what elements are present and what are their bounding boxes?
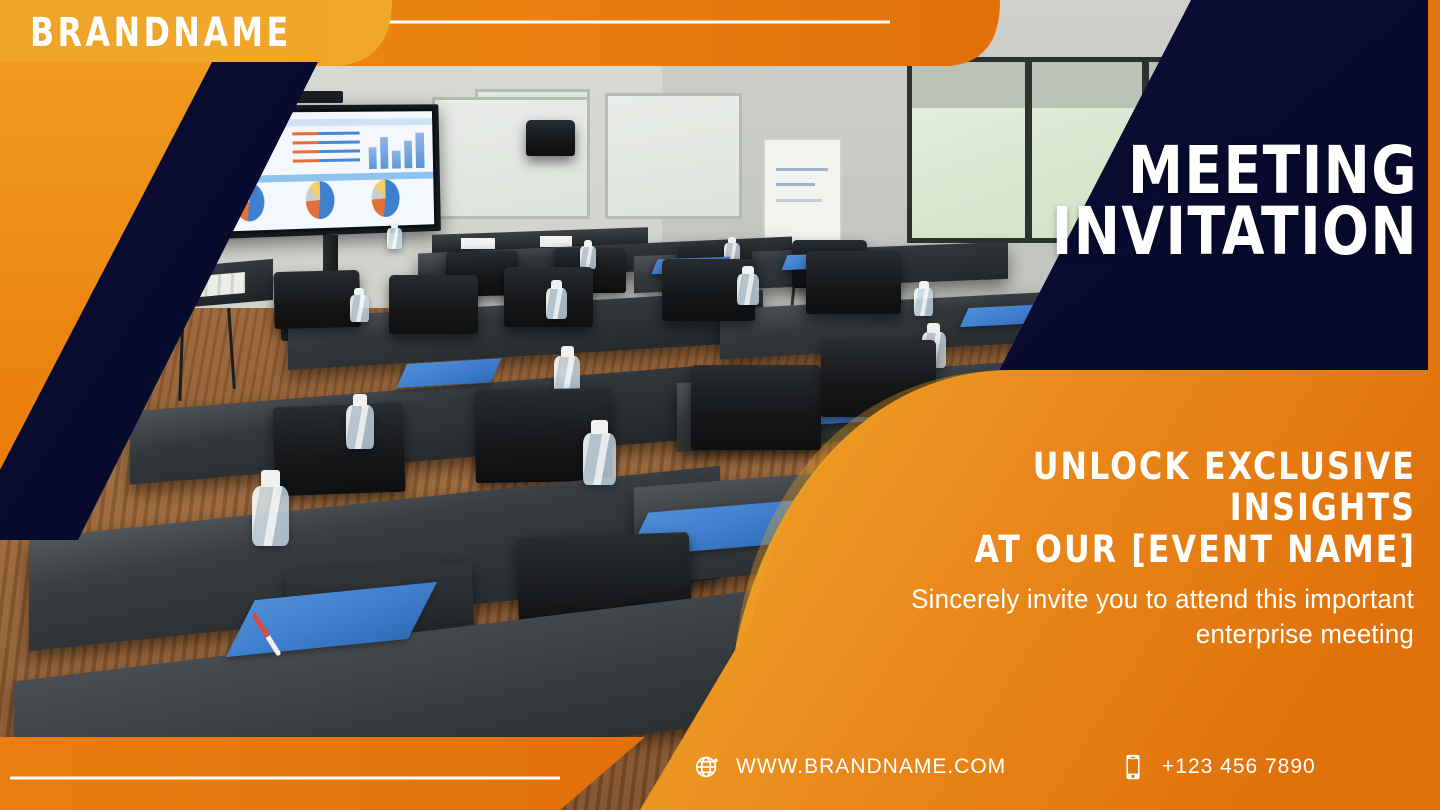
chair	[272, 403, 405, 497]
flipchart-line	[776, 183, 815, 186]
water-bottle	[580, 246, 596, 269]
flipchart-line	[776, 168, 829, 171]
headline: UNLOCK EXCLUSIVE INSIGHTS AT OUR [EVENT …	[865, 446, 1416, 570]
conference-room-photo	[0, 0, 1440, 810]
phone-label: +123 456 7890	[1162, 755, 1316, 779]
meeting-invitation-poster: BRANDNAME MEETING INVITATION UNLOCK EXCL…	[0, 0, 1440, 810]
chair	[389, 275, 478, 333]
chair	[273, 270, 361, 329]
flipchart-board	[763, 138, 842, 251]
name-card	[540, 236, 572, 247]
mobile-phone-icon	[1118, 752, 1148, 782]
chair	[526, 120, 575, 156]
dashboard-bar-chart-left	[220, 131, 285, 172]
page-title: MEETING INVITATION	[934, 140, 1418, 263]
title-line-2: INVITATION	[934, 201, 1418, 262]
dashboard-bar-chart-right	[368, 130, 424, 170]
water-bottle	[546, 288, 568, 319]
flipchart-line	[776, 199, 823, 202]
water-bottle	[737, 274, 759, 306]
chair	[806, 251, 901, 314]
dashboard-header-band	[210, 118, 432, 127]
website-label: WWW.BRANDNAME.COM	[736, 755, 1006, 779]
window-blind	[912, 62, 1276, 108]
phone-contact[interactable]: +123 456 7890	[1118, 752, 1316, 782]
website-contact[interactable]: WWW.BRANDNAME.COM	[692, 752, 1006, 782]
whiteboard	[605, 93, 742, 219]
dashboard-bullet-rows	[293, 132, 360, 170]
chair	[691, 365, 821, 450]
brand-name: BRANDNAME	[30, 10, 292, 56]
invitation-body-text: Sincerely invite you to attend this impo…	[819, 582, 1414, 651]
water-bottle	[252, 486, 289, 546]
dashboard-pie-chart	[235, 183, 266, 223]
water-bottle	[387, 228, 401, 249]
headline-line-1: UNLOCK EXCLUSIVE INSIGHTS	[865, 446, 1416, 529]
water-bottle	[350, 295, 369, 323]
name-card	[461, 238, 496, 249]
water-bottle	[346, 405, 375, 449]
globe-icon	[692, 752, 722, 782]
dashboard-pie-chart	[371, 180, 400, 218]
headline-line-2: AT OUR [EVENT NAME]	[865, 529, 1416, 570]
dashboard-screen	[210, 111, 434, 231]
chair	[821, 340, 936, 417]
water-bottle	[583, 433, 616, 485]
dashboard-pie-chart	[305, 181, 335, 220]
whiteboard	[432, 97, 590, 219]
water-bottle	[914, 288, 933, 316]
display-mount-bar	[295, 91, 343, 103]
presentation-display	[202, 105, 440, 240]
title-line-1: MEETING	[934, 140, 1418, 201]
